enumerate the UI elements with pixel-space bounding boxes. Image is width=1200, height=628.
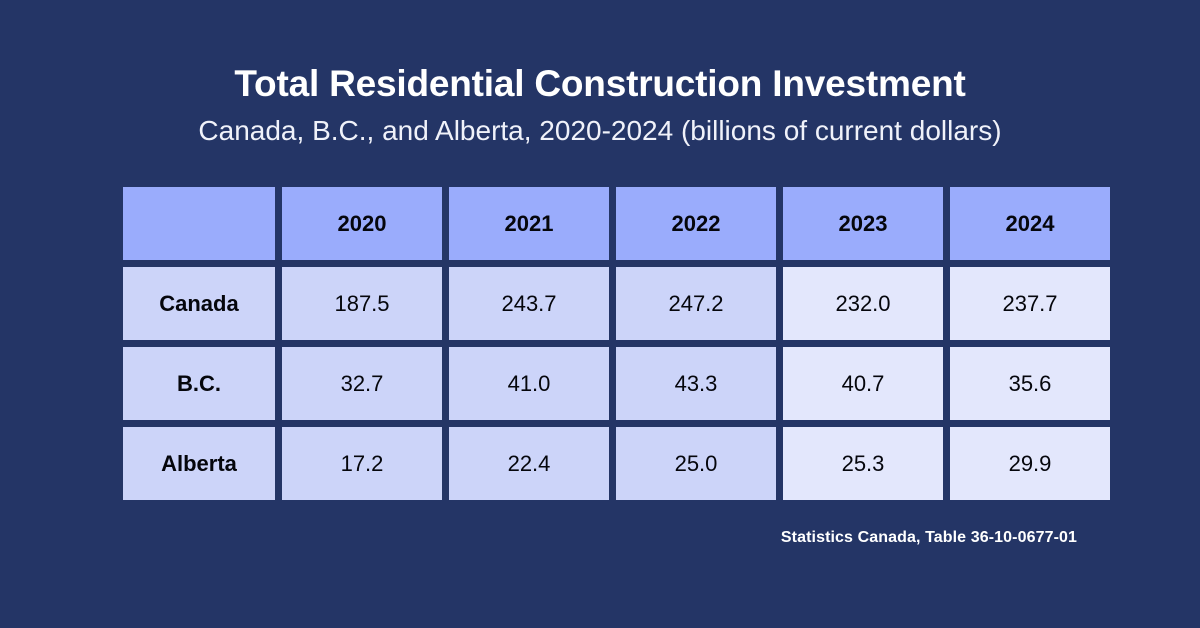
cell-bc-2021: 41.0 [449,347,609,420]
column-header-2020: 2020 [282,187,442,260]
column-header-2023: 2023 [783,187,943,260]
source-caption: Statistics Canada, Table 36-10-0677-01 [0,529,1077,547]
cell-bc-2024: 35.6 [950,347,1110,420]
infographic-canvas: Total Residential Construction Investmen… [0,0,1200,628]
data-table-container: 2020 2021 2022 2023 2024 Canada 187.5 24… [123,187,1077,500]
cell-alberta-2022: 25.0 [616,427,776,500]
cell-canada-2023: 232.0 [783,267,943,340]
table-header: 2020 2021 2022 2023 2024 [123,187,1110,260]
column-header-2021: 2021 [449,187,609,260]
cell-bc-2020: 32.7 [282,347,442,420]
table-body: Canada 187.5 243.7 247.2 232.0 237.7 B.C… [123,267,1110,500]
cell-canada-2021: 243.7 [449,267,609,340]
column-header-2022: 2022 [616,187,776,260]
header-block: Total Residential Construction Investmen… [0,62,1200,150]
table-row: Canada 187.5 243.7 247.2 232.0 237.7 [123,267,1110,340]
cell-canada-2020: 187.5 [282,267,442,340]
page-subtitle: Canada, B.C., and Alberta, 2020-2024 (bi… [0,112,1200,150]
cell-bc-2022: 43.3 [616,347,776,420]
row-label-alberta: Alberta [123,427,275,500]
table-corner-cell [123,187,275,260]
row-label-canada: Canada [123,267,275,340]
cell-alberta-2020: 17.2 [282,427,442,500]
cell-bc-2023: 40.7 [783,347,943,420]
investment-table: 2020 2021 2022 2023 2024 Canada 187.5 24… [116,180,1117,507]
cell-alberta-2021: 22.4 [449,427,609,500]
table-row: Alberta 17.2 22.4 25.0 25.3 29.9 [123,427,1110,500]
column-header-2024: 2024 [950,187,1110,260]
cell-canada-2024: 237.7 [950,267,1110,340]
row-label-bc: B.C. [123,347,275,420]
cell-canada-2022: 247.2 [616,267,776,340]
cell-alberta-2023: 25.3 [783,427,943,500]
cell-alberta-2024: 29.9 [950,427,1110,500]
table-header-row: 2020 2021 2022 2023 2024 [123,187,1110,260]
page-title: Total Residential Construction Investmen… [0,62,1200,106]
table-row: B.C. 32.7 41.0 43.3 40.7 35.6 [123,347,1110,420]
